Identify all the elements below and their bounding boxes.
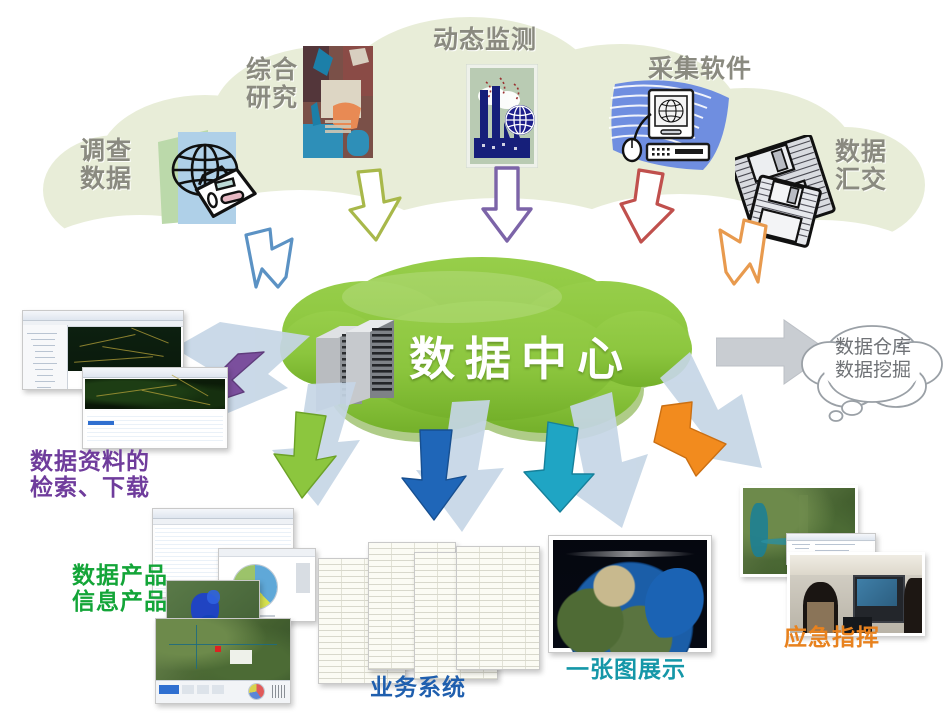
source-label-comprehensive-study: 综合 研究 (246, 56, 298, 112)
output-label-emergency-command: 应急指挥 (784, 626, 880, 652)
outflow-arrow-business-system (398, 428, 476, 524)
output-label-business-system: 业务系统 (370, 676, 466, 702)
side-cloud-line-2: 数据挖掘 (812, 359, 934, 382)
inflow-arrow-comprehensive-study (344, 168, 406, 246)
data-center-architecture-diagram: 调查 数据 综合 研究 动态监测 采集软件 数据 汇交 (0, 0, 947, 716)
factory-globe-icon (466, 64, 538, 168)
inflow-arrow-collection-software (615, 168, 677, 248)
side-cloud-line-1: 数据仓库 (812, 336, 934, 359)
outflow-arrow-emergency-command (648, 400, 738, 492)
globe-briefcase-icon (150, 120, 260, 235)
thumbnail-business-form-4[interactable] (456, 546, 540, 670)
outflow-arrow-one-map-display (520, 420, 602, 516)
thumbnail-one-map-globe[interactable] (548, 535, 712, 653)
thumbnail-retrieval-window-front[interactable] (82, 367, 228, 449)
source-label-survey-data: 调查 数据 (80, 137, 132, 193)
output-label-data-info-products: 数据产品 信息产品 (72, 564, 168, 616)
output-label-data-retrieval-download: 数据资料的 检索、下载 (30, 450, 150, 502)
thumbnail-emergency-operator-photo[interactable] (787, 552, 925, 636)
inflow-arrow-dynamic-monitoring (480, 165, 534, 245)
source-label-dynamic-monitoring: 动态监测 (433, 26, 537, 54)
output-label-one-map-display: 一张图展示 (566, 658, 686, 684)
research-collage-icon (303, 46, 373, 158)
outflow-arrow-data-info-products (272, 410, 352, 502)
desktop-computer-icon (607, 72, 737, 182)
inflow-arrow-data-submission (704, 218, 774, 294)
thumbnail-products-satmap[interactable] (155, 618, 291, 704)
data-warehouse-mining-label: 数据仓库 数据挖掘 (812, 336, 934, 382)
